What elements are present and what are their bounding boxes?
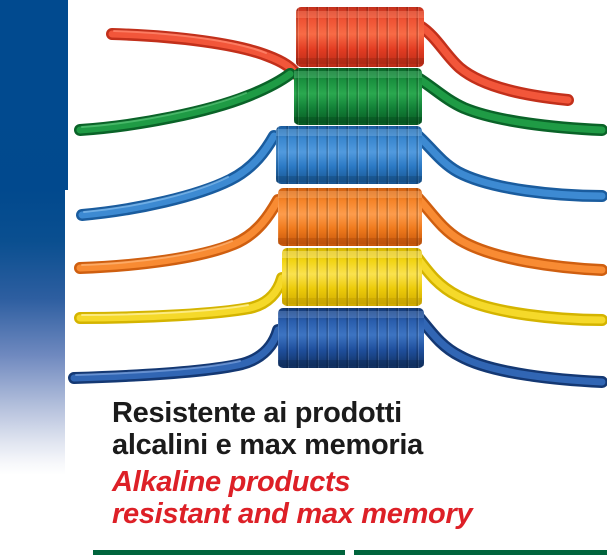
- caption-italian-line-1: Resistente ai prodotti: [112, 397, 402, 430]
- green-rule-right: [354, 550, 607, 555]
- caption-english-line-2: resistant and max memory: [112, 498, 472, 531]
- coiled-hoses-photograph: [68, 0, 607, 392]
- blue-gradient-bar-upper: [0, 0, 68, 190]
- green-rule-left: [93, 550, 345, 555]
- caption-italian-line-2: alcalini e max memoria: [112, 429, 423, 462]
- caption-english-line-1: Alkaline products: [112, 466, 350, 499]
- caption-block: Resistente ai prodotti alcalini e max me…: [0, 392, 607, 540]
